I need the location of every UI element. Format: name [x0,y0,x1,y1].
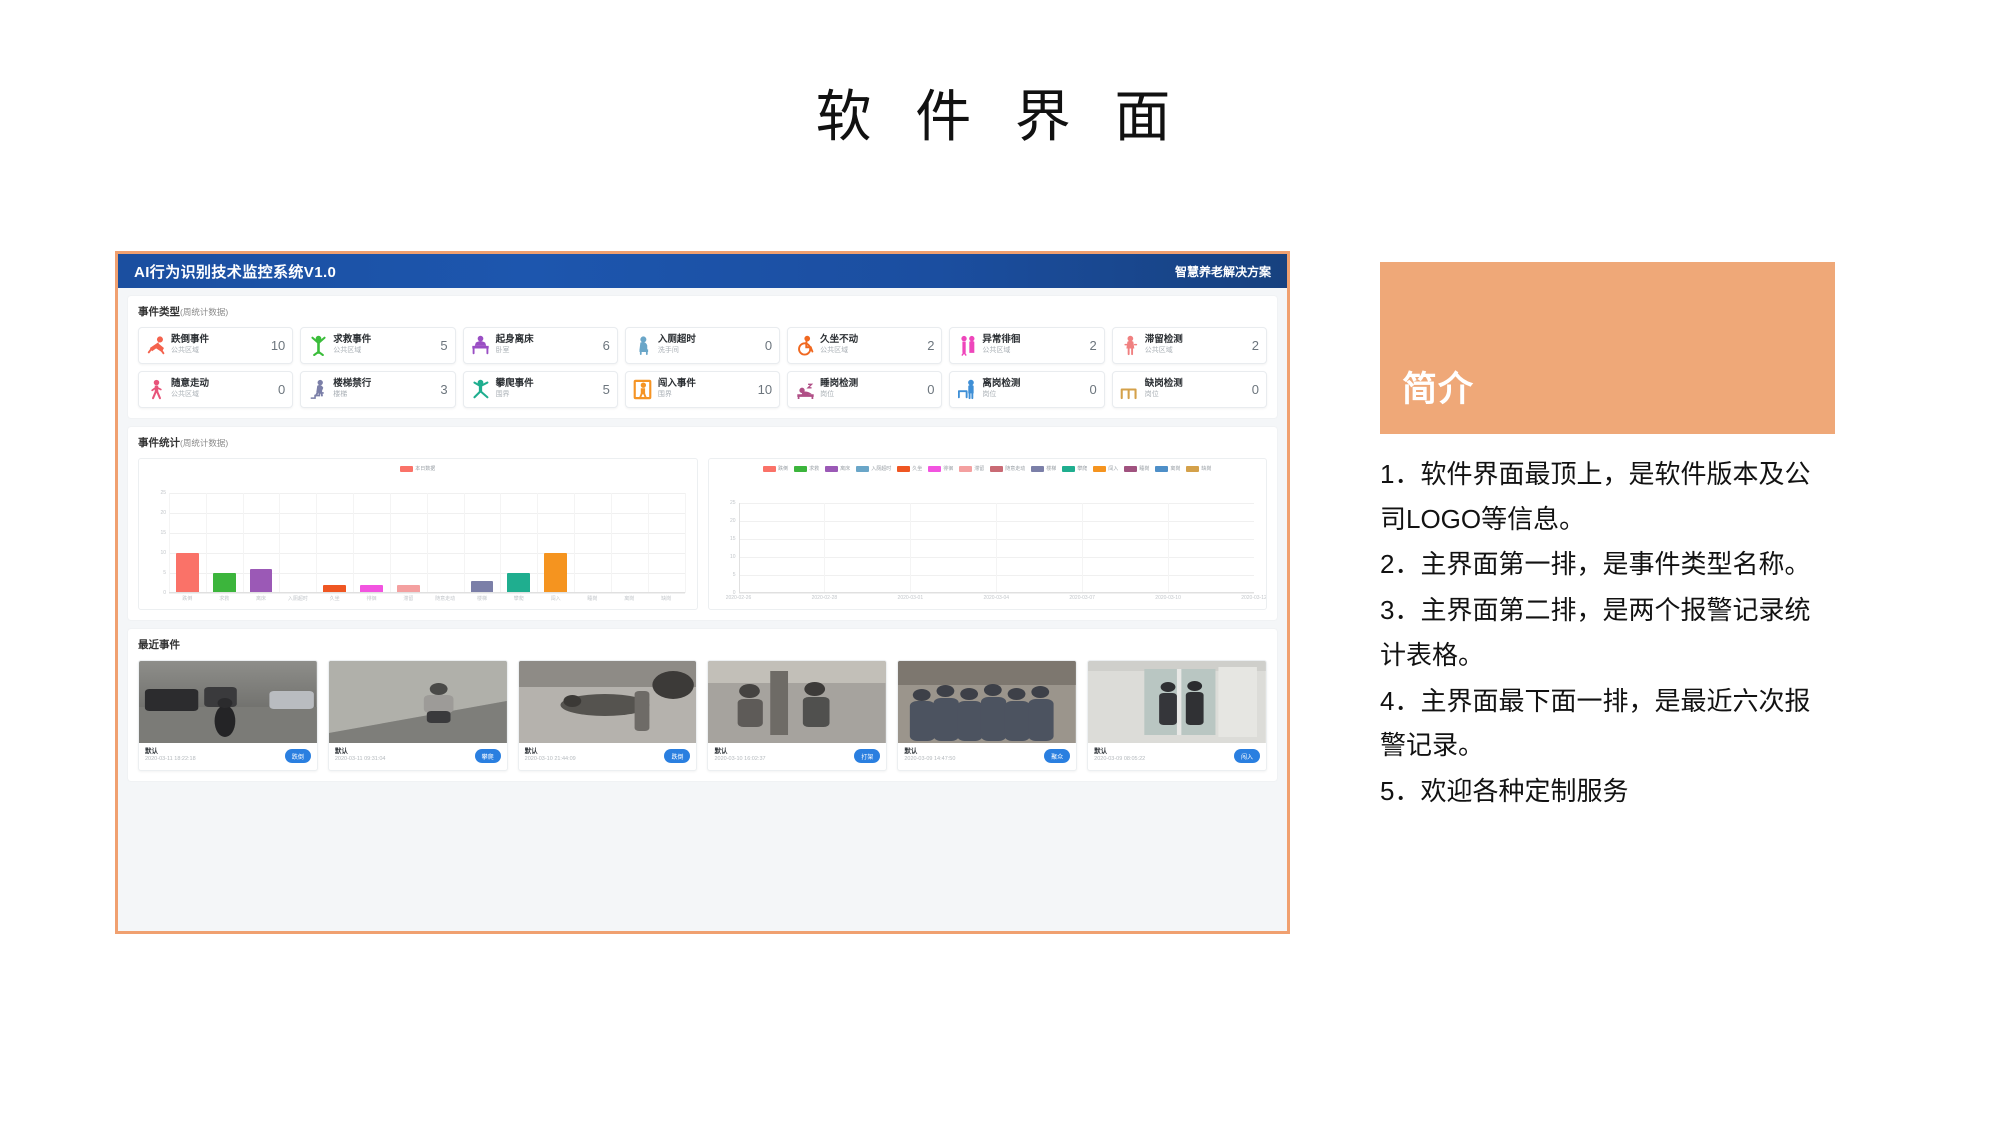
intro-list: 1．软件界面最顶上，是软件版本及公司LOGO等信息。2．主界面第一排，是事件类型… [1380,434,1835,814]
event-type-count: 5 [603,382,610,397]
legend-item[interactable]: 本日数据 [400,465,435,472]
bar[interactable] [250,569,273,593]
empty-desk-icon [1120,379,1140,401]
recent-event-thumbnail[interactable] [519,661,697,743]
legend-item[interactable]: 离床 [825,465,850,472]
x-axis-tick: 离床 [256,595,266,602]
person-leaving-desk-icon [957,379,977,401]
person-staying-icon [1120,335,1140,357]
legend-label: 攀爬 [1077,465,1087,472]
bar-cell[interactable] [316,493,353,593]
legend-label: 本日数据 [415,465,435,472]
x-axis [739,592,1255,593]
person-arms-up-icon [308,335,328,357]
bar-cell[interactable] [648,493,685,593]
person-climbing-icon [471,379,491,401]
recent-event-badge[interactable]: 闯入 [1234,749,1260,763]
bar-chart-plot: 0510152025跌倒求救离床入厕超时久坐徘徊滞留随意走动楼梯攀爬闯入睡岗离岗… [139,487,697,609]
recent-event-meta: 默认2020-03-09 08:05:22闯入 [1088,743,1266,770]
recent-event-info: 默认2020-03-11 18:22:18 [145,748,196,764]
legend-item[interactable]: 求救 [794,465,819,472]
x-axis-tick: 求救 [219,595,229,602]
event-type-name: 楼梯禁行 [333,379,436,390]
x-axis-tick: 2020-02-26 [726,595,752,601]
event-type-zone: 岗位 [820,390,923,399]
x-axis-tick: 2020-03-12 [1241,595,1267,601]
x-axis-tick: 2020-02-28 [812,595,838,601]
x-axis-tick: 跌倒 [182,595,192,602]
event-type-count: 2 [1089,338,1096,353]
recent-event-meta: 默认2020-03-09 14:47:50聚众 [898,743,1076,770]
recent-event-time: 2020-03-10 21:44:09 [525,756,576,764]
event-stats-panel: 事件统计(周统计数据) 本日数据 0510152025跌倒求救离床入厕超时久坐徘… [128,427,1277,620]
y-axis [739,503,740,593]
legend-swatch [794,466,807,472]
event-type-card[interactable]: 闯入事件围界10 [625,371,780,408]
legend-label: 滞留 [974,465,984,472]
x-axis-tick: 2020-03-07 [1069,595,1095,601]
gridline-v [1082,503,1083,593]
bar[interactable] [176,553,199,593]
recent-events-panel: 最近事件 默认2020-03-11 18:22:18跌倒默认2020-03-11… [128,629,1277,781]
gridline [739,593,1255,594]
recent-event-thumbnail[interactable] [329,661,507,743]
event-type-name: 异常徘徊 [982,335,1085,346]
legend-item[interactable]: 睡岗 [1124,465,1149,472]
recent-event-meta: 默认2020-03-11 09:31:04攀爬 [329,743,507,770]
event-types-title-main: 事件类型 [138,306,180,318]
bar-cell[interactable] [611,493,648,593]
legend-item[interactable]: 滞留 [959,465,984,472]
event-type-zone: 洗手间 [658,346,761,355]
event-type-zone: 围界 [658,390,754,399]
recent-event-time: 2020-03-11 18:22:18 [145,756,196,764]
legend-item[interactable]: 攀爬 [1062,465,1087,472]
bar-series [169,493,685,593]
recent-event-time: 2020-03-09 08:05:22 [1094,756,1145,764]
app-screenshot-frame: AI行为识别技术监控系统V1.0 智慧养老解决方案 事件类型(周统计数据) 跌倒… [115,251,1290,934]
event-type-count: 2 [927,338,934,353]
event-type-count: 0 [765,338,772,353]
recent-event-badge[interactable]: 攀爬 [475,749,501,763]
app-header: AI行为识别技术监控系统V1.0 智慧养老解决方案 [118,254,1287,288]
recent-event-badge[interactable]: 聚众 [1044,749,1070,763]
x-axis-tick: 离岗 [624,595,634,602]
recent-event-info: 默认2020-03-09 14:47:50 [904,748,955,764]
person-sitting-icon [633,335,653,357]
x-axis-tick: 徘徊 [367,595,377,602]
legend-label: 久坐 [912,465,922,472]
recent-event-name: 默认 [525,748,576,756]
event-types-title: 事件类型(周统计数据) [138,304,1267,319]
recent-event-time: 2020-03-11 09:31:04 [335,756,386,764]
bar[interactable] [507,573,530,593]
legend-item[interactable]: 离岗 [1155,465,1180,472]
event-type-name: 睡岗检测 [820,379,923,390]
legend-swatch [1062,466,1075,472]
event-type-zone: 岗位 [982,390,1085,399]
event-type-card[interactable]: 起身离床卧室6 [463,327,618,364]
event-type-card[interactable]: 滞留检测公共区域2 [1112,327,1267,364]
legend-swatch [856,466,869,472]
event-type-count: 5 [440,338,447,353]
x-axis-tick: 攀爬 [514,595,524,602]
bar-cell[interactable] [500,493,537,593]
event-type-count: 2 [1252,338,1259,353]
legend-item[interactable]: 随意走动 [990,465,1025,472]
event-type-zone: 楼梯 [333,390,436,399]
x-axis-tick: 睡岗 [587,595,597,602]
event-type-text: 睡岗检测岗位 [820,379,923,399]
recent-event-card[interactable]: 默认2020-03-09 14:47:50聚众 [897,660,1077,771]
bar-cell[interactable] [279,493,316,593]
event-type-card[interactable]: 缺岗检测岗位0 [1112,371,1267,408]
gridline-v [910,503,911,593]
event-type-zone: 公共区域 [333,346,436,355]
legend-swatch [763,466,776,472]
legend-label: 徘徊 [943,465,953,472]
event-type-text: 入厕超时洗手间 [658,335,761,355]
event-type-count: 10 [758,382,772,397]
recent-event-name: 默认 [904,748,955,756]
app-body: 事件类型(周统计数据) 跌倒事件公共区域10求救事件公共区域5起身离床卧室6入厕… [118,288,1287,800]
x-axis-tick: 缺岗 [661,595,671,602]
legend-swatch [897,466,910,472]
x-axis-tick: 2020-03-01 [898,595,924,601]
legend-swatch [825,466,838,472]
event-type-name: 入厕超时 [658,335,761,346]
recent-event-info: 默认2020-03-10 21:44:09 [525,748,576,764]
event-type-text: 异常徘徊公共区域 [982,335,1085,355]
x-axis-tick: 2020-03-10 [1155,595,1181,601]
recent-event-meta: 默认2020-03-11 18:22:18跌倒 [139,743,317,770]
y-axis-tick: 5 [163,570,166,576]
event-type-text: 求救事件公共区域 [333,335,436,355]
bar-cell[interactable] [537,493,574,593]
legend-label: 跌倒 [778,465,788,472]
intro-list-item: 4．主界面最下面一排，是最近六次报警记录。 [1380,679,1835,768]
y-axis-tick: 10 [160,550,166,556]
event-type-text: 离岗检测岗位 [982,379,1085,399]
legend-swatch [990,466,1003,472]
intro-sidebar: 简介 1．软件界面最顶上，是软件版本及公司LOGO等信息。2．主界面第一排，是事… [1380,262,1835,815]
recent-event-thumbnail[interactable] [898,661,1076,743]
legend-swatch [1124,466,1137,472]
page-title: 软 件 界 面 [0,72,2000,153]
event-type-card[interactable]: 求救事件公共区域5 [300,327,455,364]
legend-swatch [1186,466,1199,472]
bar-cell[interactable] [353,493,390,593]
x-axis-tick: 随意走动 [435,595,455,602]
recent-event-card[interactable]: 默认2020-03-10 21:44:09跌倒 [518,660,698,771]
person-leaving-bed-icon [471,335,491,357]
x-axis-tick: 久坐 [330,595,340,602]
event-type-zone: 公共区域 [820,346,923,355]
intro-list-item: 2．主界面第一排，是事件类型名称。 [1380,542,1835,587]
event-type-name: 缺岗检测 [1145,379,1248,390]
recent-event-card[interactable]: 默认2020-03-10 16:02:37打架 [707,660,887,771]
bar-cell[interactable] [390,493,427,593]
recent-event-card[interactable]: 默认2020-03-09 08:05:22闯入 [1087,660,1267,771]
legend-label: 离岗 [1170,465,1180,472]
event-type-card[interactable]: 攀爬事件围界5 [463,371,618,408]
event-types-panel: 事件类型(周统计数据) 跌倒事件公共区域10求救事件公共区域5起身离床卧室6入厕… [128,296,1277,418]
y-axis-tick: 5 [733,572,736,578]
gridline-v [996,503,997,593]
y-axis-tick: 20 [160,510,166,516]
event-type-card[interactable]: 久坐不动公共区域2 [787,327,942,364]
event-type-count: 0 [927,382,934,397]
bar-cell[interactable] [427,493,464,593]
event-type-name: 随意走动 [171,379,274,390]
person-wandering-icon [957,335,977,357]
event-type-zone: 公共区域 [1145,346,1248,355]
recent-events-grid: 默认2020-03-11 18:22:18跌倒默认2020-03-11 09:3… [138,660,1267,771]
bar-cell[interactable] [169,493,206,593]
recent-event-card[interactable]: 默认2020-03-11 18:22:18跌倒 [138,660,318,771]
intro-list-item: 5．欢迎各种定制服务 [1380,769,1835,814]
y-axis-tick: 10 [730,554,736,560]
event-type-grid: 跌倒事件公共区域10求救事件公共区域5起身离床卧室6入厕超时洗手间0久坐不动公共… [138,327,1267,408]
legend-item[interactable]: 徘徊 [928,465,953,472]
event-type-card[interactable]: 异常徘徊公共区域2 [949,327,1104,364]
gridline-v [824,503,825,593]
event-type-name: 求救事件 [333,335,436,346]
recent-event-name: 默认 [335,748,386,756]
intro-header-label: 简介 [1402,361,1474,412]
legend-swatch [400,466,413,472]
person-falling-icon [146,335,166,357]
legend-swatch [959,466,972,472]
event-type-name: 起身离床 [496,335,599,346]
legend-item[interactable]: 入厕超时 [856,465,891,472]
event-type-count: 0 [278,382,285,397]
event-stats-title-main: 事件统计 [138,437,180,449]
event-type-text: 久坐不动公共区域 [820,335,923,355]
event-type-name: 滞留检测 [1145,335,1248,346]
wheelchair-icon [795,335,815,357]
gridline [169,593,685,594]
recent-event-badge[interactable]: 跌倒 [664,749,690,763]
recent-event-card[interactable]: 默认2020-03-11 09:31:04攀爬 [328,660,508,771]
person-intrusion-icon [633,379,653,401]
event-type-text: 滞留检测公共区域 [1145,335,1248,355]
bar-cell[interactable] [574,493,611,593]
intro-list-item: 1．软件界面最顶上，是软件版本及公司LOGO等信息。 [1380,452,1835,541]
event-type-count: 3 [440,382,447,397]
y-axis-tick: 15 [160,530,166,536]
legend-label: 缺岗 [1201,465,1211,472]
x-axis-tick: 滞留 [403,595,413,602]
bar[interactable] [544,553,567,593]
legend-item[interactable]: 闯入 [1093,465,1118,472]
recent-event-info: 默认2020-03-09 08:05:22 [1094,748,1145,764]
recent-event-name: 默认 [1094,748,1145,756]
legend-label: 入厕超时 [871,465,891,472]
legend-item[interactable]: 跌倒 [763,465,788,472]
event-type-card[interactable]: 楼梯禁行楼梯3 [300,371,455,408]
recent-event-thumbnail[interactable] [1088,661,1266,743]
app-brand-label: 智慧养老解决方案 [1175,263,1271,280]
intro-list-item: 3．主界面第二排，是两个报警记录统计表格。 [1380,588,1835,677]
legend-item[interactable]: 缺岗 [1186,465,1211,472]
legend-label: 楼梯 [1046,465,1056,472]
recent-event-name: 默认 [714,748,765,756]
intro-header-box: 简介 [1380,262,1835,434]
app-title: AI行为识别技术监控系统V1.0 [134,261,336,282]
person-sleeping-desk-icon [795,379,815,401]
event-type-name: 攀爬事件 [496,379,599,390]
y-axis-tick: 15 [730,536,736,542]
event-type-name: 跌倒事件 [171,335,267,346]
recent-event-meta: 默认2020-03-10 21:44:09跌倒 [519,743,697,770]
recent-event-meta: 默认2020-03-10 16:02:37打架 [708,743,886,770]
x-axis-tick: 2020-03-04 [983,595,1009,601]
person-stairs-icon [308,379,328,401]
event-type-count: 0 [1089,382,1096,397]
y-axis-tick: 0 [163,590,166,596]
legend-label: 随意走动 [1005,465,1025,472]
bar-cell[interactable] [464,493,501,593]
event-type-name: 离岗检测 [982,379,1085,390]
event-type-count: 0 [1252,382,1259,397]
event-type-card[interactable]: 随意走动公共区域0 [138,371,293,408]
event-type-name: 久坐不动 [820,335,923,346]
event-type-zone: 围界 [496,390,599,399]
event-type-name: 闯入事件 [658,379,754,390]
event-type-text: 楼梯禁行楼梯 [333,379,436,399]
legend-swatch [1031,466,1044,472]
y-axis-tick: 25 [730,500,736,506]
event-type-card[interactable]: 睡岗检测岗位0 [787,371,942,408]
recent-event-time: 2020-03-10 16:02:37 [714,756,765,764]
event-stats-title: 事件统计(周统计数据) [138,435,1267,450]
legend-item[interactable]: 久坐 [897,465,922,472]
legend-label: 离床 [840,465,850,472]
event-type-text: 攀爬事件围界 [496,379,599,399]
legend-label: 求救 [809,465,819,472]
bar-chart-legend: 本日数据 [139,459,697,474]
x-axis [169,592,685,593]
x-axis-tick: 闯入 [551,595,561,602]
person-walking-icon [146,379,166,401]
line-chart-plot: 05101520252020-02-262020-02-282020-03-01… [709,497,1267,609]
event-type-card[interactable]: 入厕超时洗手间0 [625,327,780,364]
legend-swatch [1093,466,1106,472]
bar-cell[interactable] [243,493,280,593]
event-type-card[interactable]: 跌倒事件公共区域10 [138,327,293,364]
bar[interactable] [213,573,236,593]
recent-event-time: 2020-03-09 14:47:50 [904,756,955,764]
legend-swatch [1155,466,1168,472]
event-type-zone: 岗位 [1145,390,1248,399]
recent-event-info: 默认2020-03-11 09:31:04 [335,748,386,764]
y-axis-tick: 25 [160,490,166,496]
bar-cell[interactable] [206,493,243,593]
recent-event-info: 默认2020-03-10 16:02:37 [714,748,765,764]
legend-item[interactable]: 楼梯 [1031,465,1056,472]
y-axis-tick: 20 [730,518,736,524]
line-chart[interactable]: 跌倒求救离床入厕超时久坐徘徊滞留随意走动楼梯攀爬闯入睡岗离岗缺岗 0510152… [708,458,1268,610]
gridline-v [685,493,686,593]
event-type-card[interactable]: 离岗检测岗位0 [949,371,1104,408]
event-type-count: 6 [603,338,610,353]
event-type-zone: 卧室 [496,346,599,355]
line-chart-legend: 跌倒求救离床入厕超时久坐徘徊滞留随意走动楼梯攀爬闯入睡岗离岗缺岗 [709,459,1267,474]
event-type-zone: 公共区域 [982,346,1085,355]
legend-swatch [928,466,941,472]
recent-events-title: 最近事件 [138,637,1267,652]
recent-event-badge[interactable]: 跌倒 [285,749,311,763]
event-type-text: 闯入事件围界 [658,379,754,399]
legend-label: 闯入 [1108,465,1118,472]
bar-chart[interactable]: 本日数据 0510152025跌倒求救离床入厕超时久坐徘徊滞留随意走动楼梯攀爬闯… [138,458,698,610]
recent-event-thumbnail[interactable] [708,661,886,743]
chart-row: 本日数据 0510152025跌倒求救离床入厕超时久坐徘徊滞留随意走动楼梯攀爬闯… [138,458,1267,610]
recent-event-badge[interactable]: 打架 [854,749,880,763]
legend-label: 睡岗 [1139,465,1149,472]
x-axis-tick: 楼梯 [477,595,487,602]
event-stats-title-sub: (周统计数据) [180,438,228,448]
event-type-zone: 公共区域 [171,346,267,355]
gridline-v [1168,503,1169,593]
event-type-text: 缺岗检测岗位 [1145,379,1248,399]
recent-event-thumbnail[interactable] [139,661,317,743]
event-type-zone: 公共区域 [171,390,274,399]
event-type-text: 起身离床卧室 [496,335,599,355]
x-axis-tick: 入厕超时 [288,595,308,602]
event-types-title-sub: (周统计数据) [180,307,228,317]
event-type-text: 随意走动公共区域 [171,379,274,399]
recent-event-name: 默认 [145,748,196,756]
event-type-count: 10 [271,338,285,353]
event-type-text: 跌倒事件公共区域 [171,335,267,355]
